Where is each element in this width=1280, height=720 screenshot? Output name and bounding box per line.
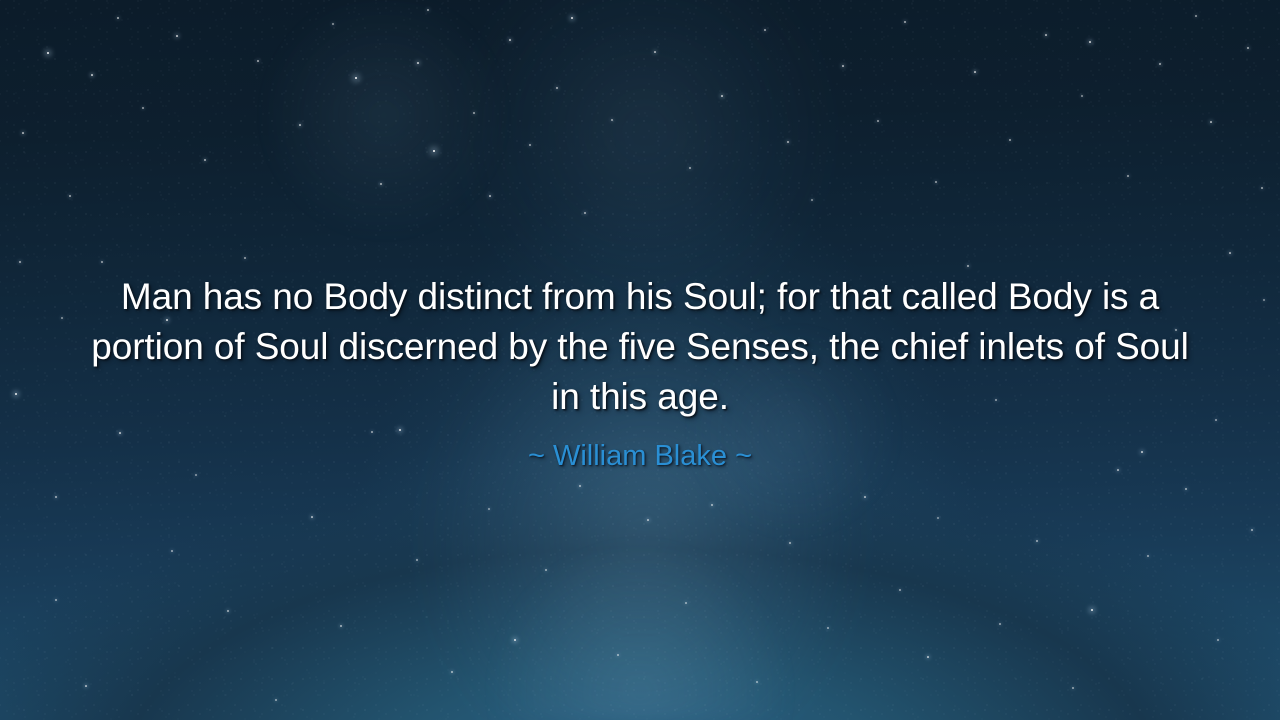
- star: [756, 681, 757, 682]
- star: [227, 610, 228, 611]
- star: [85, 685, 87, 687]
- star: [721, 95, 723, 97]
- star: [1072, 687, 1073, 688]
- star: [55, 496, 56, 497]
- star: [556, 87, 557, 88]
- star: [654, 51, 656, 53]
- star: [584, 212, 585, 213]
- star: [647, 519, 649, 521]
- star: [311, 516, 313, 518]
- star: [764, 29, 765, 30]
- star: [937, 517, 938, 518]
- star: [117, 17, 118, 18]
- star: [1045, 34, 1047, 36]
- star: [787, 141, 788, 142]
- star: [1081, 95, 1082, 96]
- star: [416, 559, 417, 560]
- star: [545, 569, 546, 570]
- star: [1089, 41, 1091, 43]
- star: [1261, 187, 1262, 188]
- star: [529, 144, 530, 145]
- star: [19, 261, 20, 262]
- star: [927, 656, 929, 658]
- star: [974, 71, 976, 73]
- star: [689, 167, 690, 168]
- star: [417, 62, 419, 64]
- star: [489, 195, 491, 197]
- star: [811, 199, 812, 200]
- quote-attribution: ~ William Blake ~: [90, 437, 1190, 475]
- star: [611, 119, 612, 120]
- star: [488, 508, 489, 509]
- star: [1036, 540, 1037, 541]
- star: [1217, 639, 1218, 640]
- star: [579, 485, 580, 486]
- star: [451, 671, 452, 672]
- star: [69, 195, 70, 196]
- star: [864, 496, 866, 498]
- star: [257, 60, 258, 61]
- star: [91, 74, 93, 76]
- star: [827, 627, 828, 628]
- star: [509, 39, 511, 41]
- star: [514, 639, 516, 641]
- star: [935, 181, 936, 182]
- star: [1251, 529, 1252, 530]
- star: [1127, 175, 1128, 176]
- star: [22, 132, 24, 134]
- star: [904, 21, 905, 22]
- star: [1185, 488, 1186, 489]
- star: [571, 17, 573, 19]
- star: [176, 35, 178, 37]
- star: [1210, 121, 1212, 123]
- star: [332, 23, 333, 24]
- star: [55, 599, 56, 600]
- star: [340, 625, 341, 626]
- quote-text: Man has no Body distinct from his Soul; …: [90, 272, 1190, 422]
- star: [1229, 252, 1231, 254]
- star: [617, 654, 618, 655]
- star: [1159, 63, 1160, 64]
- star: [101, 261, 102, 262]
- star: [842, 65, 844, 67]
- star: [899, 589, 900, 590]
- star: [171, 550, 172, 551]
- quote-wallpaper: Man has no Body distinct from his Soul; …: [0, 0, 1280, 720]
- star: [299, 124, 301, 126]
- star: [789, 542, 790, 543]
- quote-block: Man has no Body distinct from his Soul; …: [0, 272, 1280, 475]
- star: [473, 112, 474, 113]
- star: [1195, 15, 1196, 16]
- star: [1009, 139, 1010, 140]
- star: [204, 159, 205, 160]
- star: [711, 504, 712, 505]
- star: [1147, 555, 1148, 556]
- star: [275, 699, 276, 700]
- star: [967, 265, 968, 266]
- star: [142, 107, 143, 108]
- star: [999, 623, 1000, 624]
- star: [244, 257, 245, 258]
- star: [380, 183, 381, 184]
- star: [685, 602, 686, 603]
- star: [1247, 47, 1248, 48]
- star: [427, 9, 428, 10]
- star: [877, 120, 878, 121]
